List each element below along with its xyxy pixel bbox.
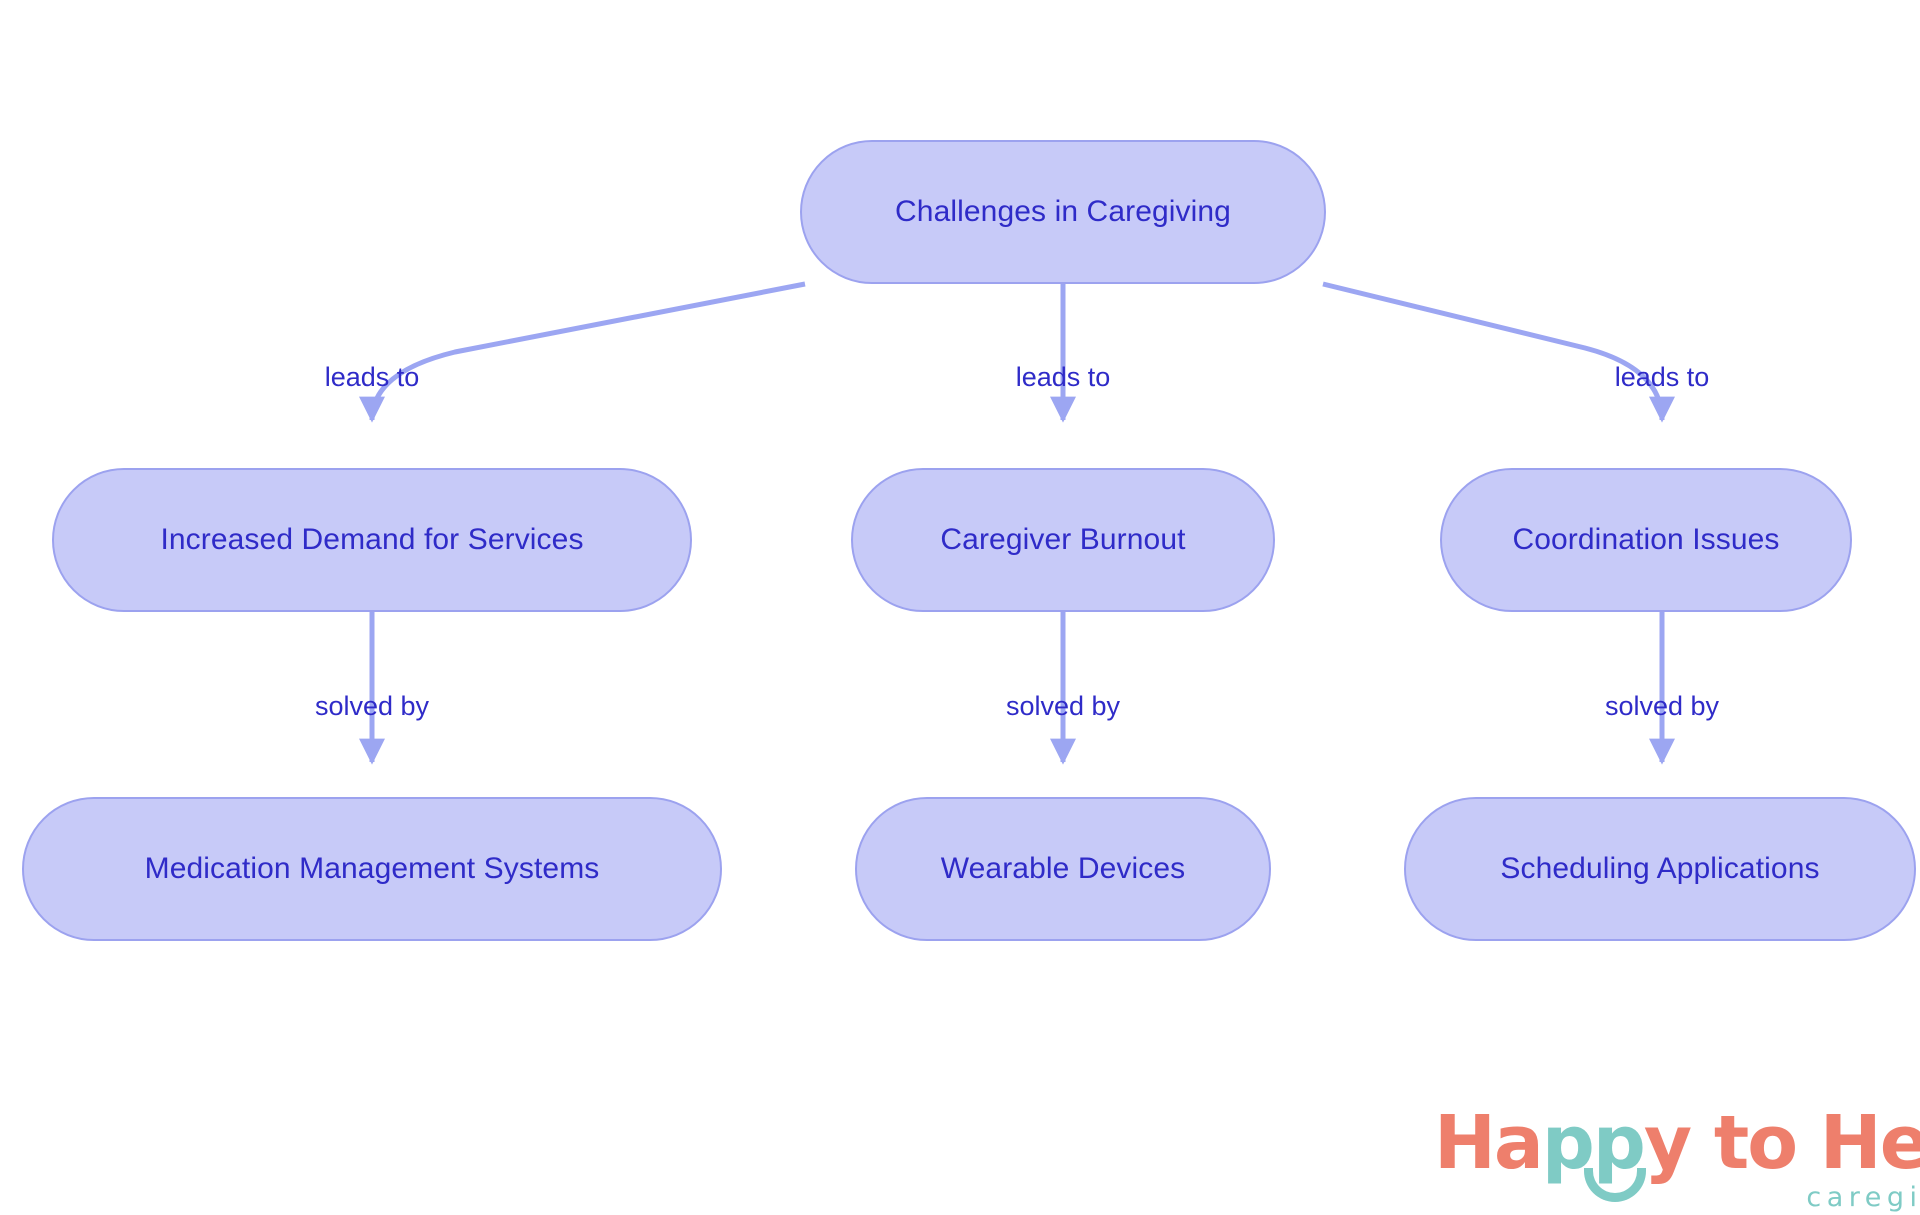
edge-label-solved-by-wearable: solved by [1006, 691, 1120, 722]
node-label: Wearable Devices [941, 852, 1186, 886]
edge-label-text: solved by [315, 691, 429, 721]
edge-root-to-coordination [1323, 284, 1662, 420]
edge-label-solved-by-medication: solved by [315, 691, 429, 722]
edge-label-leads-to-burnout: leads to [1016, 362, 1111, 393]
edge-label-leads-to-coordination: leads to [1615, 362, 1710, 393]
logo-tagline: caregiving [1434, 1182, 1920, 1213]
logo-part-ha: Ha [1434, 1100, 1542, 1186]
node-label: Challenges in Caregiving [895, 195, 1231, 229]
node-label: Scheduling Applications [1500, 852, 1819, 886]
logo-part-y-to-help: y to Help [1644, 1100, 1920, 1186]
node-medication-management-systems[interactable]: Medication Management Systems [22, 797, 722, 941]
edge-label-text: leads to [325, 362, 420, 392]
node-wearable-devices[interactable]: Wearable Devices [855, 797, 1271, 941]
edge-label-text: leads to [1016, 362, 1111, 392]
logo-wordmark: Happy to Help [1434, 1108, 1920, 1178]
edge-label-leads-to-demand: leads to [325, 362, 420, 393]
edge-label-text: solved by [1006, 691, 1120, 721]
edge-label-text: solved by [1605, 691, 1719, 721]
edge-root-to-demand [372, 284, 805, 420]
happy-to-help-logo: Happy to Help caregiving [1434, 1108, 1920, 1213]
node-challenges-in-caregiving[interactable]: Challenges in Caregiving [800, 140, 1326, 284]
node-label: Increased Demand for Services [160, 523, 583, 557]
node-scheduling-applications[interactable]: Scheduling Applications [1404, 797, 1916, 941]
node-label: Caregiver Burnout [940, 523, 1185, 557]
edge-label-solved-by-scheduling: solved by [1605, 691, 1719, 722]
diagram-canvas: Challenges in Caregiving Increased Deman… [0, 0, 1920, 1215]
node-coordination-issues[interactable]: Coordination Issues [1440, 468, 1852, 612]
edge-label-text: leads to [1615, 362, 1710, 392]
node-caregiver-burnout[interactable]: Caregiver Burnout [851, 468, 1275, 612]
node-label: Coordination Issues [1512, 523, 1779, 557]
node-increased-demand-for-services[interactable]: Increased Demand for Services [52, 468, 692, 612]
node-label: Medication Management Systems [145, 852, 600, 886]
